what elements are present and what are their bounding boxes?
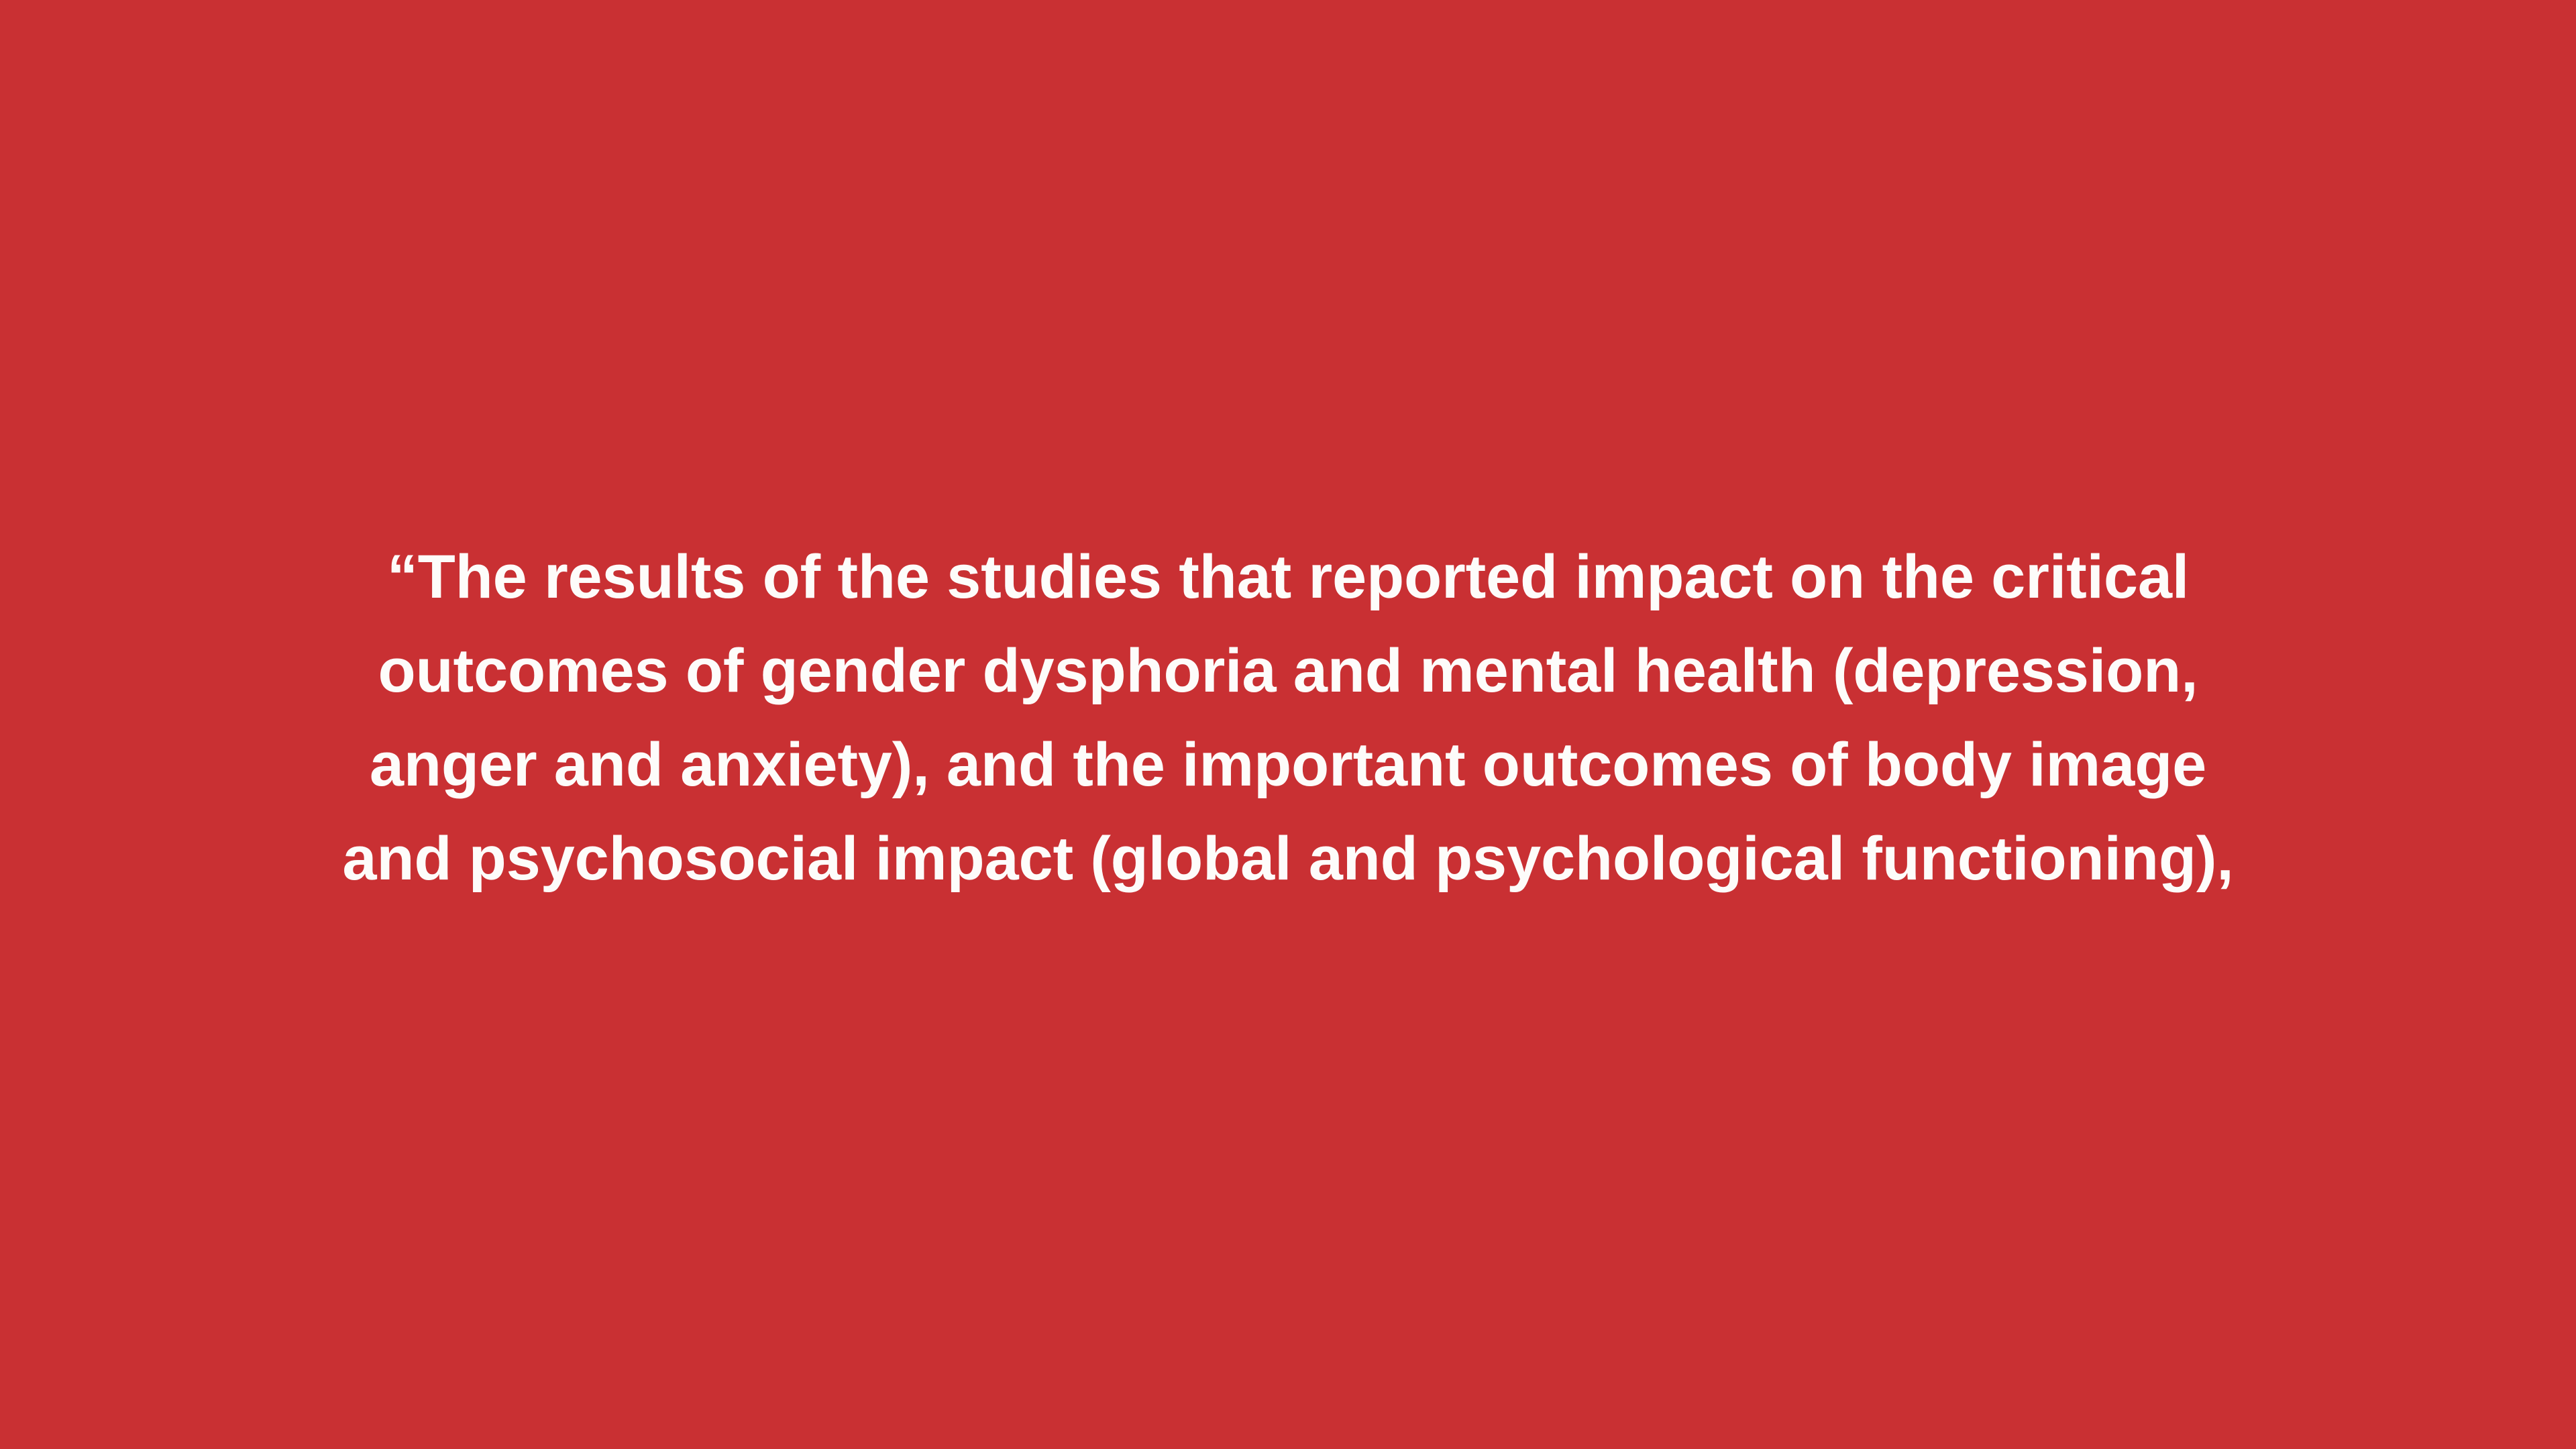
- quote-line-1: “The results of the studies that reporte…: [275, 530, 2301, 624]
- quote-line-2: outcomes of gender dysphoria and mental …: [275, 624, 2301, 718]
- quote-slide: “The results of the studies that reporte…: [0, 0, 2576, 1449]
- quote-block: “The results of the studies that reporte…: [275, 530, 2301, 906]
- quote-line-3: anger and anxiety), and the important ou…: [275, 718, 2301, 812]
- quote-line-4: and psychosocial impact (global and psyc…: [275, 812, 2301, 906]
